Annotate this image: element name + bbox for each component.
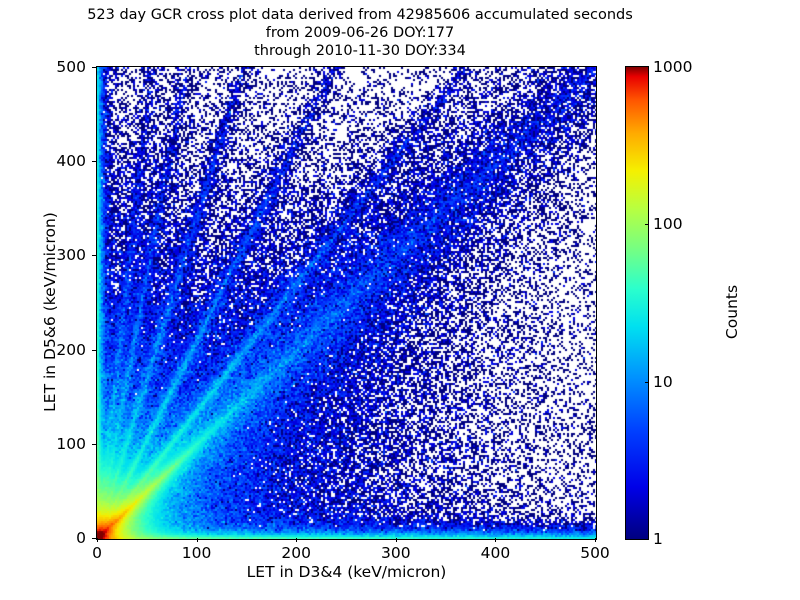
x-tick-mark [296,538,297,542]
colorbar-tick-label: 10 [653,373,673,391]
y-tick-mark [92,255,96,256]
chart-title-line-1: 523 day GCR cross plot data derived from… [0,6,720,24]
colorbar-label: Counts [723,182,741,442]
x-tick-mark [495,538,496,542]
x-tick-label: 200 [281,544,311,562]
chart-title-line-3: through 2010-11-30 DOY:334 [0,42,720,60]
x-tick-label: 100 [182,544,212,562]
colorbar-tick-label: 1 [653,530,663,548]
y-tick-mark [92,538,96,539]
chart-title: 523 day GCR cross plot data derived from… [0,6,720,60]
colorbar-gradient [626,67,648,539]
y-tick-mark [92,67,96,68]
x-tick-mark [396,538,397,542]
x-tick-mark [595,538,596,542]
colorbar [625,66,649,540]
y-tick-mark [92,444,96,445]
x-tick-label: 300 [381,544,411,562]
y-tick-label: 500 [0,58,86,76]
colorbar-tick-mark [645,382,649,383]
chart-title-line-2: from 2009-06-26 DOY:177 [0,24,720,42]
colorbar-tick-label: 1000 [653,58,692,76]
colorbar-tick-label: 100 [653,215,683,233]
x-tick-label: 500 [580,544,610,562]
y-tick-label: 0 [0,529,86,547]
x-tick-mark [197,538,198,542]
x-axis-label: LET in D3&4 (keV/micron) [96,563,597,581]
x-tick-mark [97,538,98,542]
x-tick-label: 400 [481,544,511,562]
y-tick-mark [92,350,96,351]
plot-area [96,66,597,540]
y-tick-mark [92,161,96,162]
density-heatmap-canvas [97,67,596,539]
x-tick-label: 0 [92,544,102,562]
colorbar-tick-mark [645,224,649,225]
y-axis-label: LET in D5&6 (keV/micron) [41,112,59,512]
